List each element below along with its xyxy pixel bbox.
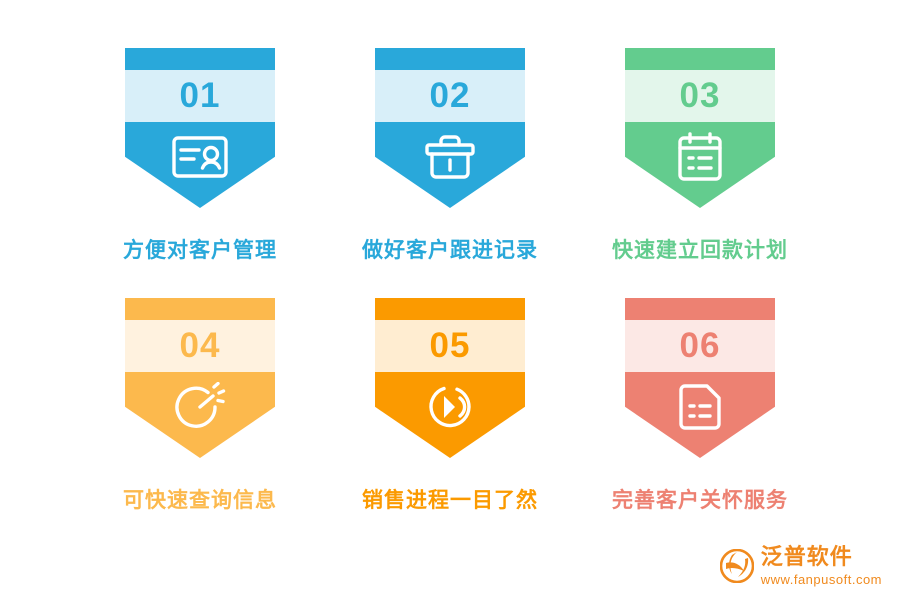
banner-5: 05 [375,298,525,458]
feature-item-5: 05 销售进程一目了然 [325,298,575,548]
brand-logo: 泛普软件 www.fanpusoft.com [720,546,882,586]
contact-card-icon [125,126,275,188]
banner-number-3: 03 [625,70,775,122]
banner-3: 03 [625,48,775,208]
feature-grid: 01 方便对客户管理 02 [0,48,900,548]
clipboard-list-icon [625,126,775,188]
logo-url: www.fanpusoft.com [761,573,882,586]
feature-caption-2: 做好客户跟进记录 [362,234,538,264]
feature-item-2: 02 做好客户跟进记录 [325,48,575,298]
feature-caption-5: 销售进程一目了然 [362,484,538,514]
pie-chart-icon [125,376,275,438]
fanpu-logo-icon [720,549,754,583]
banner-4: 04 [125,298,275,458]
feature-item-1: 01 方便对客户管理 [75,48,325,298]
banner-number-5: 05 [375,320,525,372]
feature-caption-6: 完善客户关怀服务 [612,484,788,514]
feature-caption-4: 可快速查询信息 [123,484,277,514]
feature-item-6: 06 完善客户关怀服务 [575,298,825,548]
poster-canvas: 01 方便对客户管理 02 [0,0,900,600]
banner-number-2: 02 [375,70,525,122]
basket-icon [375,126,525,188]
feature-item-3: 03 快速建立回款计划 [575,48,825,298]
banner-6: 06 [625,298,775,458]
banner-number-1: 01 [125,70,275,122]
banner-number-4: 04 [125,320,275,372]
banner-1: 01 [125,48,275,208]
feature-caption-1: 方便对客户管理 [123,234,277,264]
banner-2: 02 [375,48,525,208]
feature-item-4: 04 可快速查询信息 [75,298,325,548]
save-document-icon [625,376,775,438]
logo-text: 泛普软件 www.fanpusoft.com [761,546,882,586]
banner-number-6: 06 [625,320,775,372]
feature-caption-3: 快速建立回款计划 [612,234,788,264]
logo-title: 泛普软件 [761,546,853,568]
arrow-circle-icon [375,376,525,438]
